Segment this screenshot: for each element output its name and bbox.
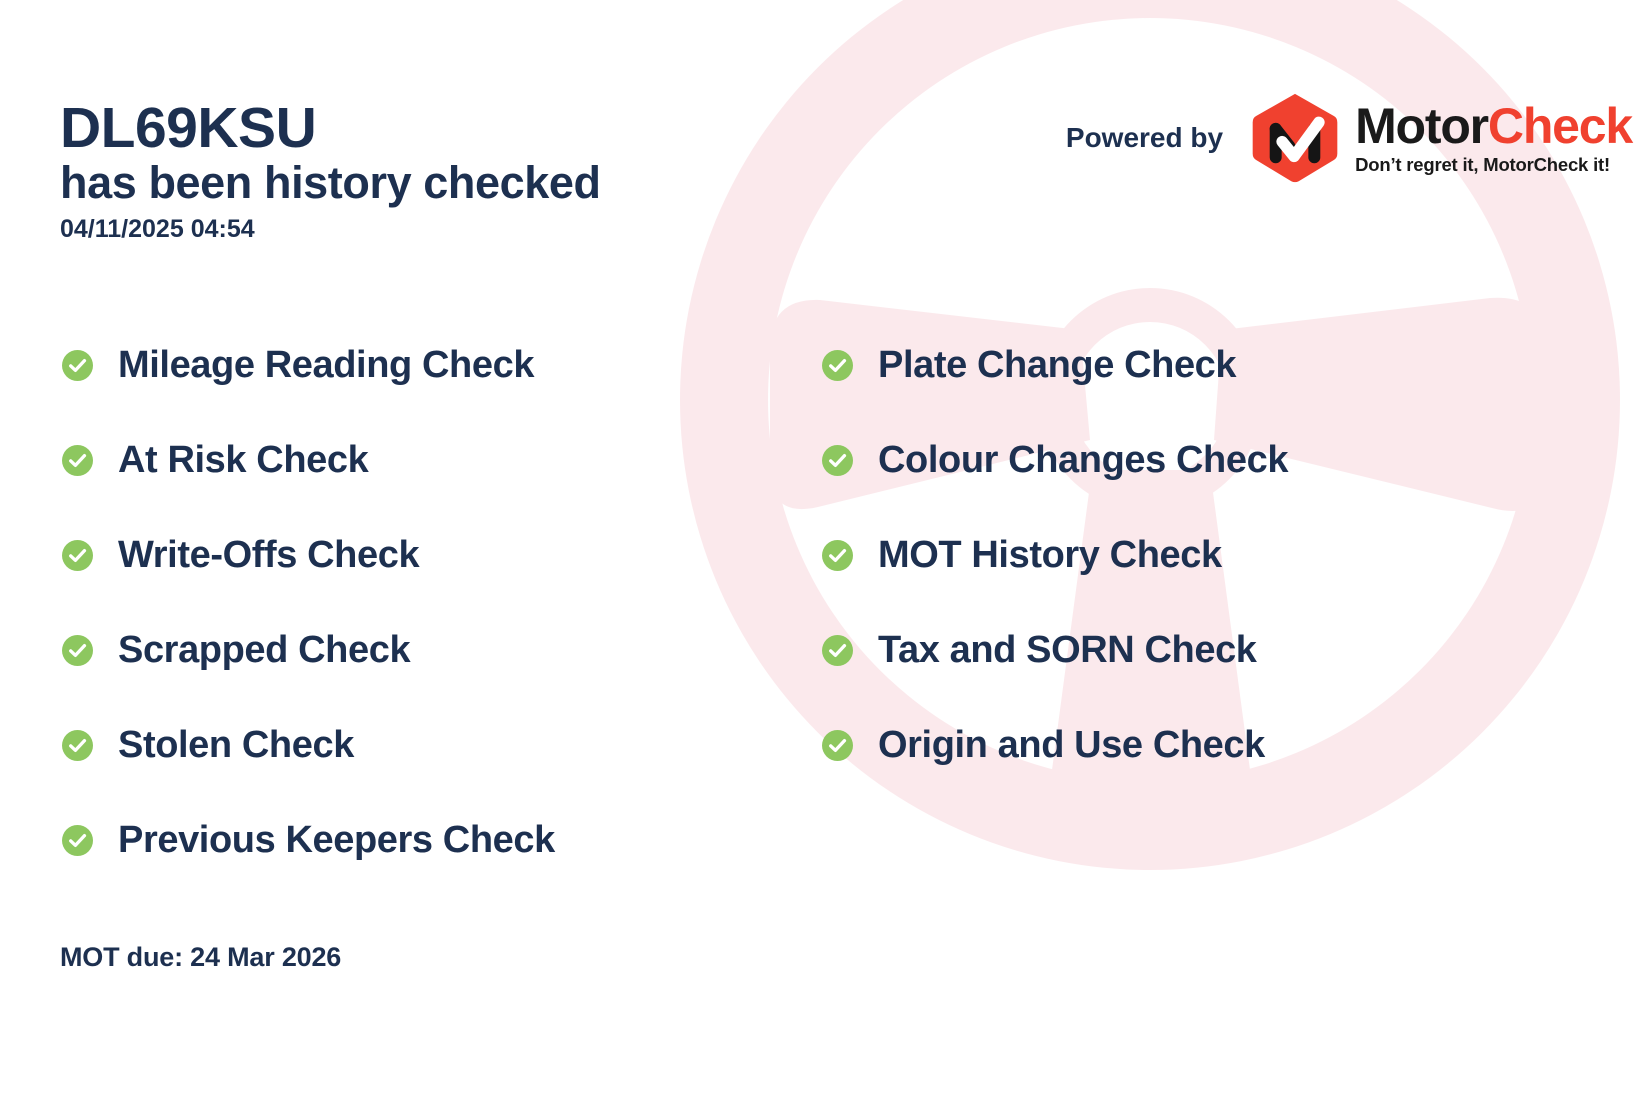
green-check-circle-icon — [822, 445, 853, 476]
green-check-circle-icon — [822, 635, 853, 666]
brand-tagline: Don’t regret it, MotorCheck it! — [1355, 156, 1632, 175]
check-item: MOT History Check — [822, 508, 1582, 603]
green-check-circle-icon — [62, 730, 93, 761]
checks-grid: Mileage Reading Check At Risk Check Writ… — [62, 318, 1582, 888]
check-item: Origin and Use Check — [822, 698, 1582, 793]
check-label: Stolen Check — [118, 724, 354, 767]
check-label: Write-Offs Check — [118, 534, 419, 577]
powered-by-label: Powered by — [1066, 122, 1223, 154]
green-check-circle-icon — [62, 635, 93, 666]
check-label: Tax and SORN Check — [878, 629, 1257, 672]
green-check-circle-icon — [822, 350, 853, 381]
header-block: DL69KSU has been history checked 04/11/2… — [60, 98, 601, 244]
vehicle-history-check-badge: DL69KSU has been history checked 04/11/2… — [0, 0, 1650, 1100]
registration-plate: DL69KSU — [60, 98, 601, 158]
check-item: Tax and SORN Check — [822, 603, 1582, 698]
motorcheck-logo[interactable]: MotorCheck Don’t regret it, MotorCheck i… — [1249, 92, 1632, 184]
check-label: Mileage Reading Check — [118, 344, 534, 387]
green-check-circle-icon — [62, 825, 93, 856]
check-item: Plate Change Check — [822, 318, 1582, 413]
motorcheck-hexagon-logo-icon — [1249, 92, 1341, 184]
check-item: Mileage Reading Check — [62, 318, 822, 413]
check-item: At Risk Check — [62, 413, 822, 508]
check-label: Colour Changes Check — [878, 439, 1288, 482]
brand-bar: Powered by MotorCheck Don’t regret it, M… — [1066, 92, 1632, 184]
checks-column-right: Plate Change Check Colour Changes Check … — [822, 318, 1582, 888]
check-timestamp: 04/11/2025 04:54 — [60, 215, 601, 244]
check-label: Plate Change Check — [878, 344, 1236, 387]
check-item: Stolen Check — [62, 698, 822, 793]
check-item: Previous Keepers Check — [62, 793, 822, 888]
green-check-circle-icon — [62, 540, 93, 571]
wordmark-check: Check — [1488, 101, 1632, 151]
check-label: At Risk Check — [118, 439, 368, 482]
check-label: MOT History Check — [878, 534, 1222, 577]
check-item: Write-Offs Check — [62, 508, 822, 603]
motorcheck-wordmark: MotorCheck Don’t regret it, MotorCheck i… — [1355, 101, 1632, 175]
check-item: Colour Changes Check — [822, 413, 1582, 508]
page-title: has been history checked — [60, 158, 601, 208]
green-check-circle-icon — [822, 730, 853, 761]
wordmark-motor: Motor — [1355, 101, 1488, 151]
check-label: Previous Keepers Check — [118, 819, 555, 862]
checks-column-left: Mileage Reading Check At Risk Check Writ… — [62, 318, 822, 888]
check-label: Scrapped Check — [118, 629, 410, 672]
mot-due-text: MOT due: 24 Mar 2026 — [60, 942, 341, 973]
green-check-circle-icon — [62, 445, 93, 476]
check-item: Scrapped Check — [62, 603, 822, 698]
check-label: Origin and Use Check — [878, 724, 1265, 767]
green-check-circle-icon — [62, 350, 93, 381]
green-check-circle-icon — [822, 540, 853, 571]
